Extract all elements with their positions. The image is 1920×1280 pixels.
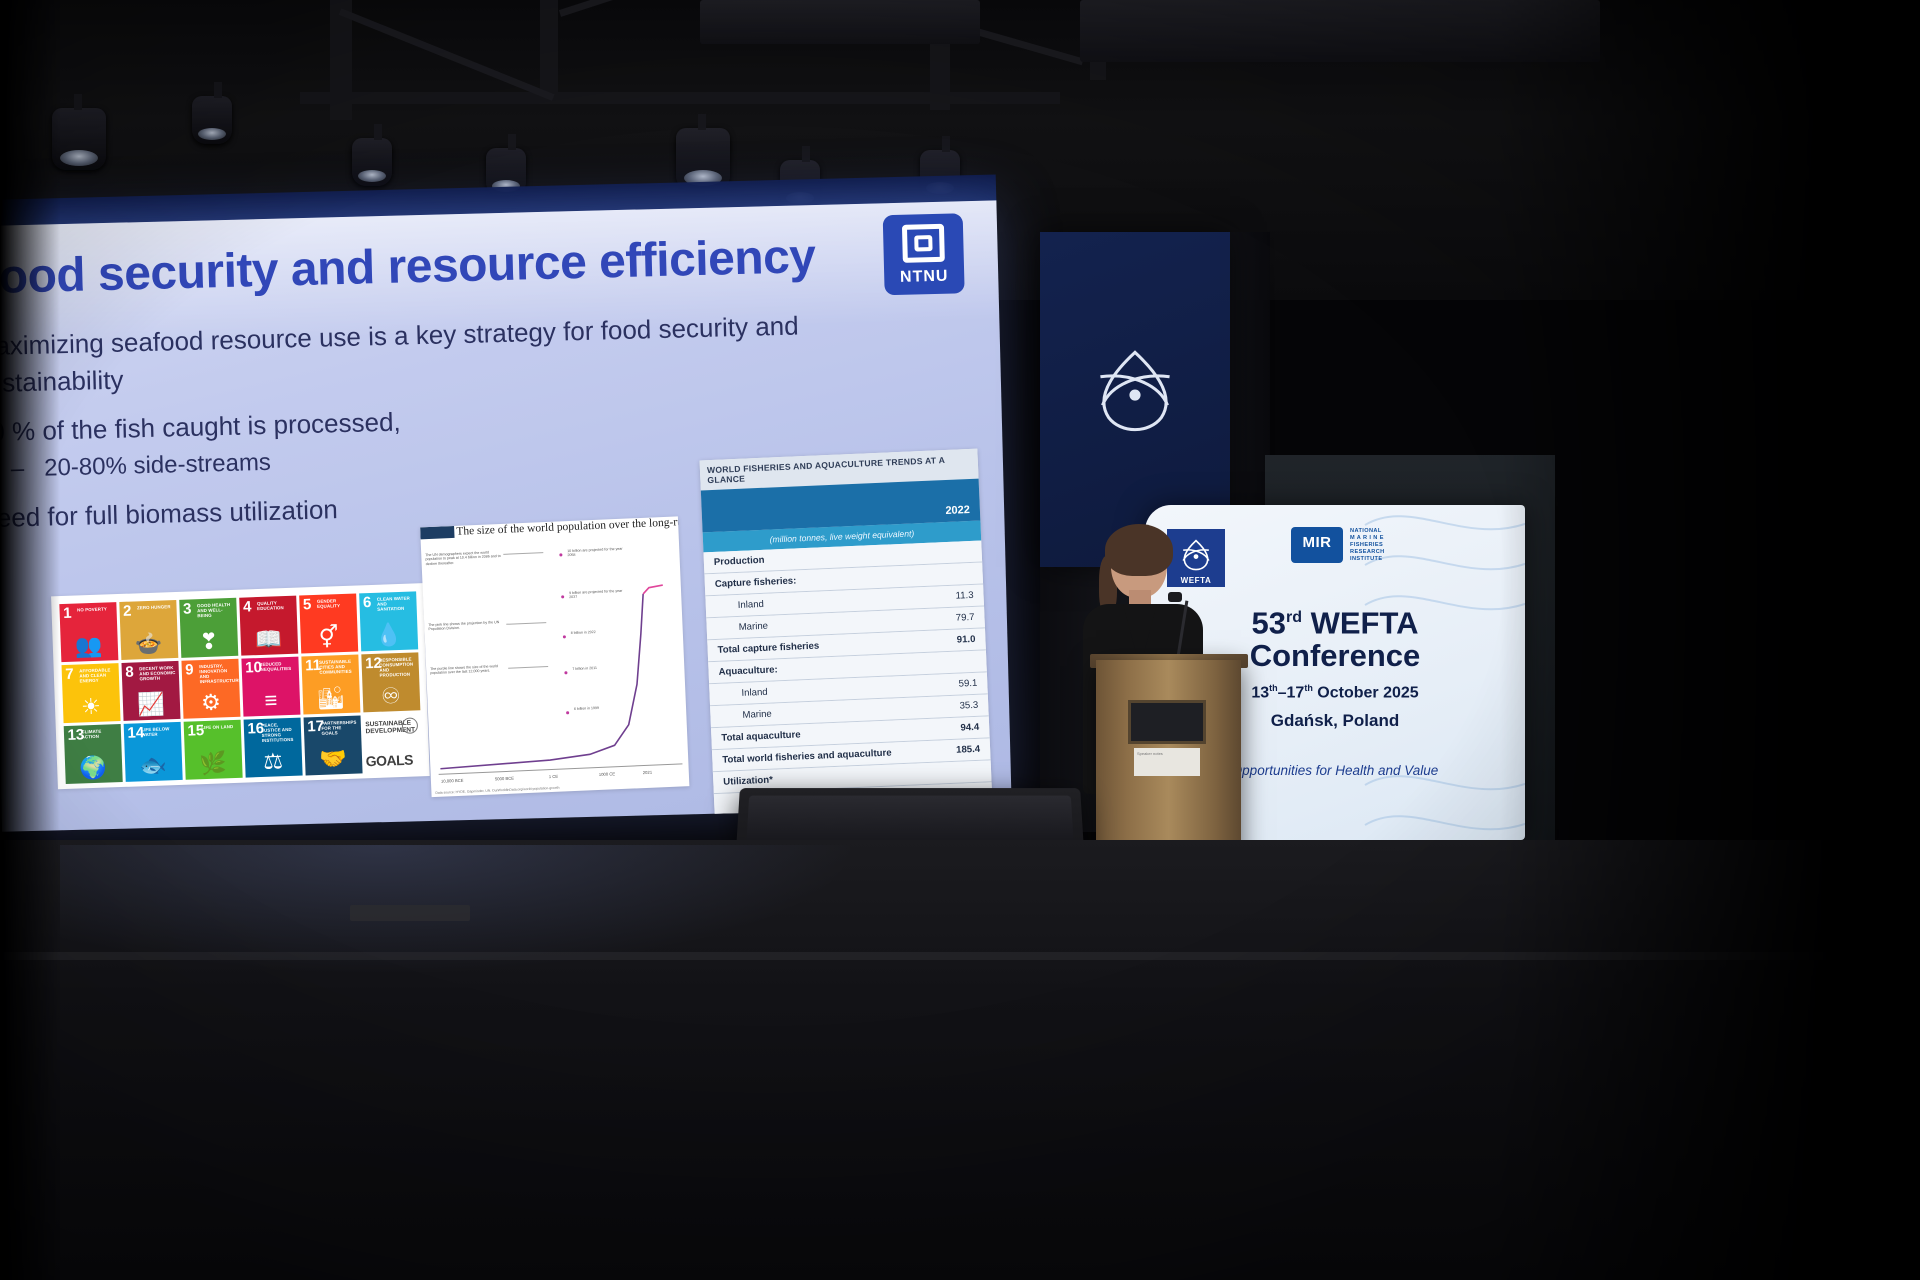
conference-word: Conference xyxy=(1250,638,1421,673)
date-month-year: October 2025 xyxy=(1313,684,1419,701)
sdg-goal-label: CLIMATE ACTION xyxy=(81,728,118,740)
sdg-goal-label: QUALITY EDUCATION xyxy=(257,599,294,611)
world-population-chart: The size of the world population over th… xyxy=(420,516,689,797)
un-emblem-icon xyxy=(401,717,418,734)
mir-institute-name: NATIONAL M A R I N E FISHERIES RESEARCH … xyxy=(1350,528,1385,563)
sdg-goal-number: 7 xyxy=(65,667,74,681)
sdg-goal-icon: ⚖ xyxy=(244,749,302,773)
sdg-goal-label: SUSTAINABLE CITIES AND COMMUNITIES xyxy=(319,658,357,675)
sdg-goal-11: 11SUSTAINABLE CITIES AND COMMUNITIES🏙 xyxy=(301,654,360,714)
sdg-goal-1: 1NO POVERTY👥 xyxy=(59,602,118,662)
light-arm xyxy=(508,134,516,150)
sdg-grid: 1NO POVERTY👥2ZERO HUNGER🍲3GOOD HEALTH AN… xyxy=(51,583,430,789)
fao-row-label: Total capture fisheries xyxy=(717,641,819,656)
podium-notes: Speaker notes xyxy=(1134,748,1200,776)
projection-screen: Food security and resource efficiency NT… xyxy=(0,174,1012,839)
light-arm xyxy=(698,114,706,130)
fao-row-value: 79.7 xyxy=(956,612,975,624)
sdg-goal-icon: ⚙ xyxy=(182,690,240,714)
sdg-goal-4: 4QUALITY EDUCATION📖 xyxy=(239,595,298,655)
speaker-hair xyxy=(1105,524,1173,576)
truss-rail xyxy=(300,92,1060,104)
popchart-x-tick: 2021 xyxy=(643,770,653,775)
light-lens xyxy=(198,128,226,140)
date-start: 13 xyxy=(1251,684,1269,701)
mir-line: FISHERIES xyxy=(1350,542,1385,549)
sdg-goal-number: 4 xyxy=(243,600,252,614)
fao-row-label: Marine xyxy=(720,709,772,722)
sdg-goal-icon: 💧 xyxy=(360,623,418,647)
date-sup: th xyxy=(1304,683,1313,693)
fao-row-value: 91.0 xyxy=(957,634,976,646)
stage-light xyxy=(352,138,392,186)
sdg-goal-number: 2 xyxy=(123,604,132,618)
light-lens xyxy=(60,150,98,166)
sdg-goal-17: 17PARTNERSHIPS FOR THE GOALS🤝 xyxy=(303,715,362,775)
popchart-x-tick: 1000 CE xyxy=(599,771,615,777)
fao-row-value: 185.4 xyxy=(956,744,980,756)
fao-trends-table: WORLD FISHERIES AND AQUACULTURE TRENDS A… xyxy=(700,449,994,832)
conference-ordinal: rd xyxy=(1286,609,1302,626)
light-arm xyxy=(74,94,82,110)
sdg-goal-label: INDUSTRY, INNOVATION AND INFRASTRUCTURE xyxy=(199,662,237,684)
sdg-goal-3: 3GOOD HEALTH AND WELL-BEING❣ xyxy=(179,597,238,657)
fao-row-value: 59.1 xyxy=(958,678,977,690)
truss-beam xyxy=(540,0,558,96)
sdg-goal-icon: 📖 xyxy=(240,627,298,651)
sdg-goal-number: 1 xyxy=(63,606,72,620)
right-shadow xyxy=(1500,0,1920,1280)
mir-logo: MIR NATIONAL M A R I N E FISHERIES RESEA… xyxy=(1291,527,1385,563)
sdg-goal-number: 3 xyxy=(183,602,192,616)
fao-row-value: 35.3 xyxy=(959,700,978,712)
mir-line: M A R I N E xyxy=(1350,535,1385,542)
sdg-goal-15: 15LIFE ON LAND🌿 xyxy=(183,719,242,779)
stage-light xyxy=(52,108,106,170)
fao-row-label: Capture fisheries: xyxy=(715,575,797,589)
population-curve xyxy=(423,582,688,773)
left-shadow xyxy=(0,0,60,1280)
popchart-marker xyxy=(559,553,562,556)
sdg-goal-2: 2ZERO HUNGER🍲 xyxy=(119,599,178,659)
microphone-head-icon xyxy=(1168,592,1182,602)
fao-row-label: Inland xyxy=(716,599,765,612)
sdg-goal-label: GOOD HEALTH AND WELL-BEING xyxy=(197,601,235,618)
sdg-goal-number: 5 xyxy=(303,598,312,612)
sdg-goal-6: 6CLEAN WATER AND SANITATION💧 xyxy=(359,591,418,651)
conference-name: WEFTA xyxy=(1302,605,1419,640)
sdg-goal-14: 14LIFE BELOW WATER🐟 xyxy=(123,721,182,781)
mir-badge-text: MIR xyxy=(1291,534,1343,551)
sdg-goal-label: REDUCED INEQUALITIES xyxy=(259,660,296,672)
sdg-goal-12: 12RESPONSIBLE CONSUMPTION AND PRODUCTION… xyxy=(361,652,420,712)
popchart-footnote: Data source: HYDE, Gapminder, UN. OurWor… xyxy=(435,780,685,795)
sdg-wordmark-line2: GOALS xyxy=(365,751,413,769)
sdg-goal-13: 13CLIMATE ACTION🌍 xyxy=(63,724,122,784)
fao-row-value: 11.3 xyxy=(955,590,973,602)
popchart-x-tick: 1 CE xyxy=(549,774,559,779)
sdg-goal-10: 10REDUCED INEQUALITIES≡ xyxy=(241,656,300,716)
floor-marker xyxy=(350,905,470,921)
sdg-goal-icon: 📈 xyxy=(122,692,180,716)
slide-title: Food security and resource efficiency xyxy=(0,228,870,306)
popchart-note: The UN demographers expect the world pop… xyxy=(425,550,503,567)
mir-line: NATIONAL xyxy=(1350,528,1385,535)
popchart-x-tick: 10,000 BCE xyxy=(441,778,464,784)
sdg-goal-label: CLEAN WATER AND SANITATION xyxy=(377,595,415,612)
ntnu-wordmark: NTNU xyxy=(884,267,964,287)
ceiling-duct xyxy=(700,0,980,44)
sdg-goal-label: LIFE BELOW WATER xyxy=(141,725,178,737)
sdg-goal-icon: 🏙 xyxy=(302,686,360,710)
date-sup: th xyxy=(1269,683,1278,693)
date-end: –17 xyxy=(1278,684,1305,701)
fao-row-label: Marine xyxy=(717,621,769,634)
owid-mark xyxy=(420,526,454,539)
mir-badge: MIR xyxy=(1291,527,1343,563)
sdg-goal-icon: 🐟 xyxy=(124,753,182,777)
sdg-goal-icon: 👥 xyxy=(60,634,118,658)
sdg-goal-icon: ⚥ xyxy=(300,625,358,649)
sdg-goal-label: GENDER EQUALITY xyxy=(317,597,354,609)
fao-row-label: Utilization* xyxy=(723,775,773,788)
sdg-goal-label: LIFE ON LAND xyxy=(201,723,238,730)
light-arm xyxy=(374,124,382,140)
sdg-goal-16: 16PEACE, JUSTICE AND STRONG INSTITUTIONS… xyxy=(243,717,302,777)
sdg-goal-5: 5GENDER EQUALITY⚥ xyxy=(299,593,358,653)
fao-row-label: Total world fisheries and aquaculture xyxy=(722,748,892,766)
light-arm xyxy=(214,82,222,98)
sdg-goal-label: AFFORDABLE AND CLEAN ENERGY xyxy=(79,667,117,684)
sdg-goal-number: 9 xyxy=(185,663,194,677)
sdg-goal-icon: ♾ xyxy=(362,684,420,708)
slide-surface: Food security and resource efficiency NT… xyxy=(0,200,1012,831)
light-arm xyxy=(942,136,950,152)
fao-row-label: Aquaculture: xyxy=(718,664,778,678)
bullet-line-4-text: 20-80% side-streams xyxy=(44,449,271,482)
ntnu-logo: NTNU xyxy=(883,213,965,295)
sdg-goal-label: PEACE, JUSTICE AND STRONG INSTITUTIONS xyxy=(261,721,299,743)
stage-light xyxy=(192,96,232,144)
sdg-goal-icon: ☀ xyxy=(62,695,120,719)
sdg-goal-number: 6 xyxy=(363,595,372,609)
fao-row-value: 94.4 xyxy=(960,722,979,734)
leader-line xyxy=(503,552,543,555)
podium-monitor xyxy=(1128,700,1206,744)
popchart-annotation: 10 billion are projected for the year 20… xyxy=(567,546,629,557)
triquetra-icon xyxy=(1074,332,1196,454)
sdg-goal-number: 8 xyxy=(125,665,134,679)
mir-line: RESEARCH xyxy=(1350,549,1385,556)
light-arm xyxy=(802,146,810,162)
sdg-goal-label: PARTNERSHIPS FOR THE GOALS xyxy=(321,719,359,736)
fao-year: 2022 xyxy=(945,504,970,517)
fao-row-label: Production xyxy=(714,555,765,568)
sdg-wordmark: SUSTAINABLE DEVELOPMENTGOALS xyxy=(363,713,422,773)
sdg-goal-label: NO POVERTY xyxy=(77,606,114,613)
sdg-goal-icon: 🤝 xyxy=(304,747,362,771)
sdg-goal-label: ZERO HUNGER xyxy=(137,604,174,611)
ntnu-inner-icon xyxy=(914,235,932,251)
fao-row-label: Inland xyxy=(719,687,768,700)
sdg-row: 13CLIMATE ACTION🌍14LIFE BELOW WATER🐟15LI… xyxy=(62,711,424,785)
popchart-x-tick: 5000 BCE xyxy=(495,776,514,782)
sdg-goal-icon: ≡ xyxy=(242,688,300,712)
sdg-goal-icon: 🍲 xyxy=(120,631,178,655)
sdg-goal-label: RESPONSIBLE CONSUMPTION AND PRODUCTION xyxy=(379,656,417,678)
conference-stage-photo: Food security and resource efficiency NT… xyxy=(0,0,1920,1280)
sdg-goal-icon: ❣ xyxy=(180,629,238,653)
fao-row-label: Total aquaculture xyxy=(721,729,801,743)
sdg-goal-label: DECENT WORK AND ECONOMIC GROWTH xyxy=(139,665,177,682)
conference-number: 53 xyxy=(1252,605,1286,640)
sdg-goal-7: 7AFFORDABLE AND CLEAN ENERGY☀ xyxy=(61,663,120,723)
sdg-goal-8: 8DECENT WORK AND ECONOMIC GROWTH📈 xyxy=(121,660,180,720)
light-lens xyxy=(358,170,386,182)
sdg-goal-9: 9INDUSTRY, INNOVATION AND INFRASTRUCTURE… xyxy=(181,658,240,718)
mir-line: INSTITUTE xyxy=(1350,556,1385,563)
sdg-goal-icon: 🌿 xyxy=(184,751,242,775)
sdg-goal-icon: 🌍 xyxy=(64,756,122,780)
